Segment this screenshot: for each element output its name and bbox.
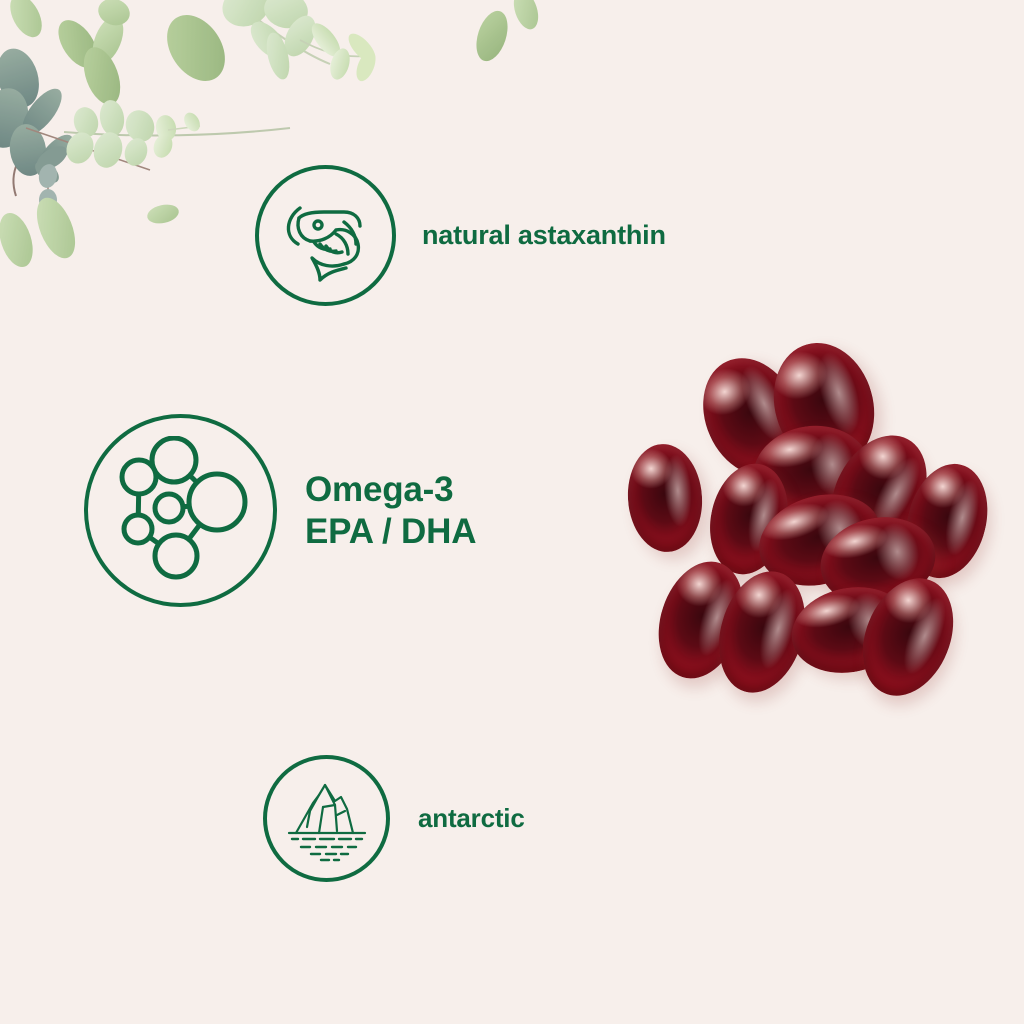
antarctic-badge [263,755,390,882]
capsule [624,442,705,555]
feature-astaxanthin[interactable]: natural astaxanthin [255,165,666,306]
iceberg-icon [279,771,375,867]
feature-astaxanthin-label: natural astaxanthin [422,220,666,252]
astaxanthin-badge [255,165,396,306]
feature-antarctic[interactable]: antarctic [263,755,525,882]
omega-badge [84,414,277,607]
molecule-icon [106,436,256,586]
shrimp-icon [274,184,378,288]
feature-antarctic-label: antarctic [418,803,525,834]
poster-canvas: natural astaxanthin Omega-3 [0,0,1024,1024]
feature-omega[interactable]: Omega-3 EPA / DHA [84,414,476,607]
feature-omega-label: Omega-3 EPA / DHA [305,469,476,552]
krill-oil-capsules [598,338,978,708]
